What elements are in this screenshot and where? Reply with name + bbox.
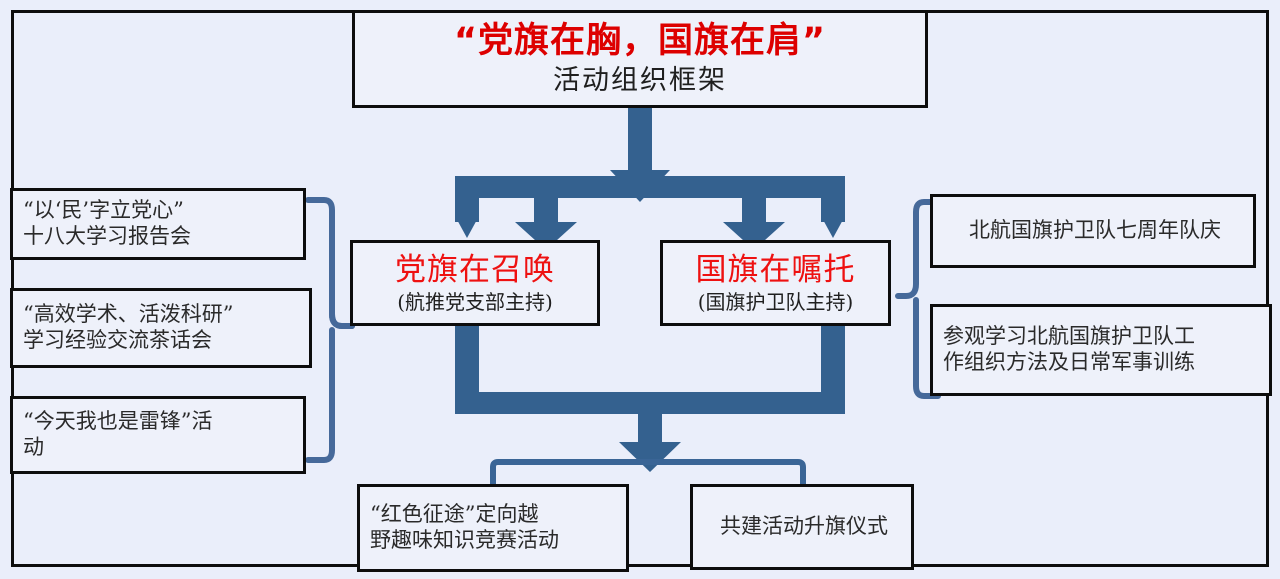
slide-canvas: “党旗在胸，国旗在肩” 活动组织框架 党旗在召唤 (航推党支部主持) 国旗在嘱托…: [0, 0, 1280, 579]
right-activity-box-1[interactable]: 北航国旗护卫队七周年队庆: [930, 194, 1256, 268]
bottom-activity-2-line1: 共建活动升旗仪式: [720, 514, 888, 540]
merge-arrow-connector: [455, 324, 845, 474]
bottom-activity-box-1[interactable]: “红色征途”定向越 野趣味知识竞赛活动: [357, 484, 629, 572]
left-activity-1-line1: “以‘民’字立党心”: [23, 198, 184, 224]
left-activity-3-line2: 动: [23, 435, 44, 461]
pillar-box-national-flag[interactable]: 国旗在嘱托 (国旗护卫队主持): [660, 240, 891, 326]
right-activity-box-2[interactable]: 参观学习北航国旗护卫队工 作组织方法及日常军事训练: [930, 304, 1272, 396]
right-activity-2-line2: 作组织方法及日常军事训练: [943, 350, 1195, 376]
title-main-text: “党旗在胸，国旗在肩”: [454, 20, 826, 63]
left-activity-box-2[interactable]: “高效学术、活泼科研” 学习经验交流茶话会: [10, 288, 312, 368]
title-subtitle-text: 活动组织框架: [553, 65, 727, 98]
left-activity-2-line1: “高效学术、活泼科研”: [23, 302, 233, 328]
pillar-box-party-flag[interactable]: 党旗在召唤 (航推党支部主持): [350, 240, 600, 326]
left-activity-3-line1: “今天我也是雷锋”活: [23, 409, 212, 435]
left-activity-2-line2: 学习经验交流茶话会: [23, 328, 212, 354]
merge-cross-bar: [455, 392, 845, 414]
pillar-right-heading: 国旗在嘱托: [696, 252, 856, 290]
bottom-activity-1-line1: “红色征途”定向越: [370, 502, 538, 528]
left-activity-1-line2: 十八大学习报告会: [23, 224, 191, 250]
pillar-right-subtitle: (国旗护卫队主持): [698, 290, 854, 314]
pillar-left-subtitle: (航推党支部主持): [397, 290, 553, 314]
right-activity-1-line1: 北航国旗护卫队七周年队庆: [969, 218, 1221, 244]
left-activity-box-1[interactable]: “以‘民’字立党心” 十八大学习报告会: [10, 188, 306, 260]
pillar-left-heading: 党旗在召唤: [395, 252, 555, 290]
left-activity-box-3[interactable]: “今天我也是雷锋”活 动: [10, 396, 306, 474]
right-activity-2-line1: 参观学习北航国旗护卫队工: [943, 324, 1195, 350]
bottom-activity-1-line2: 野趣味知识竞赛活动: [370, 528, 559, 554]
bottom-activity-box-2[interactable]: 共建活动升旗仪式: [690, 484, 914, 570]
left-brace-icon: [308, 200, 352, 460]
title-box: “党旗在胸，国旗在肩” 活动组织框架: [352, 10, 928, 108]
